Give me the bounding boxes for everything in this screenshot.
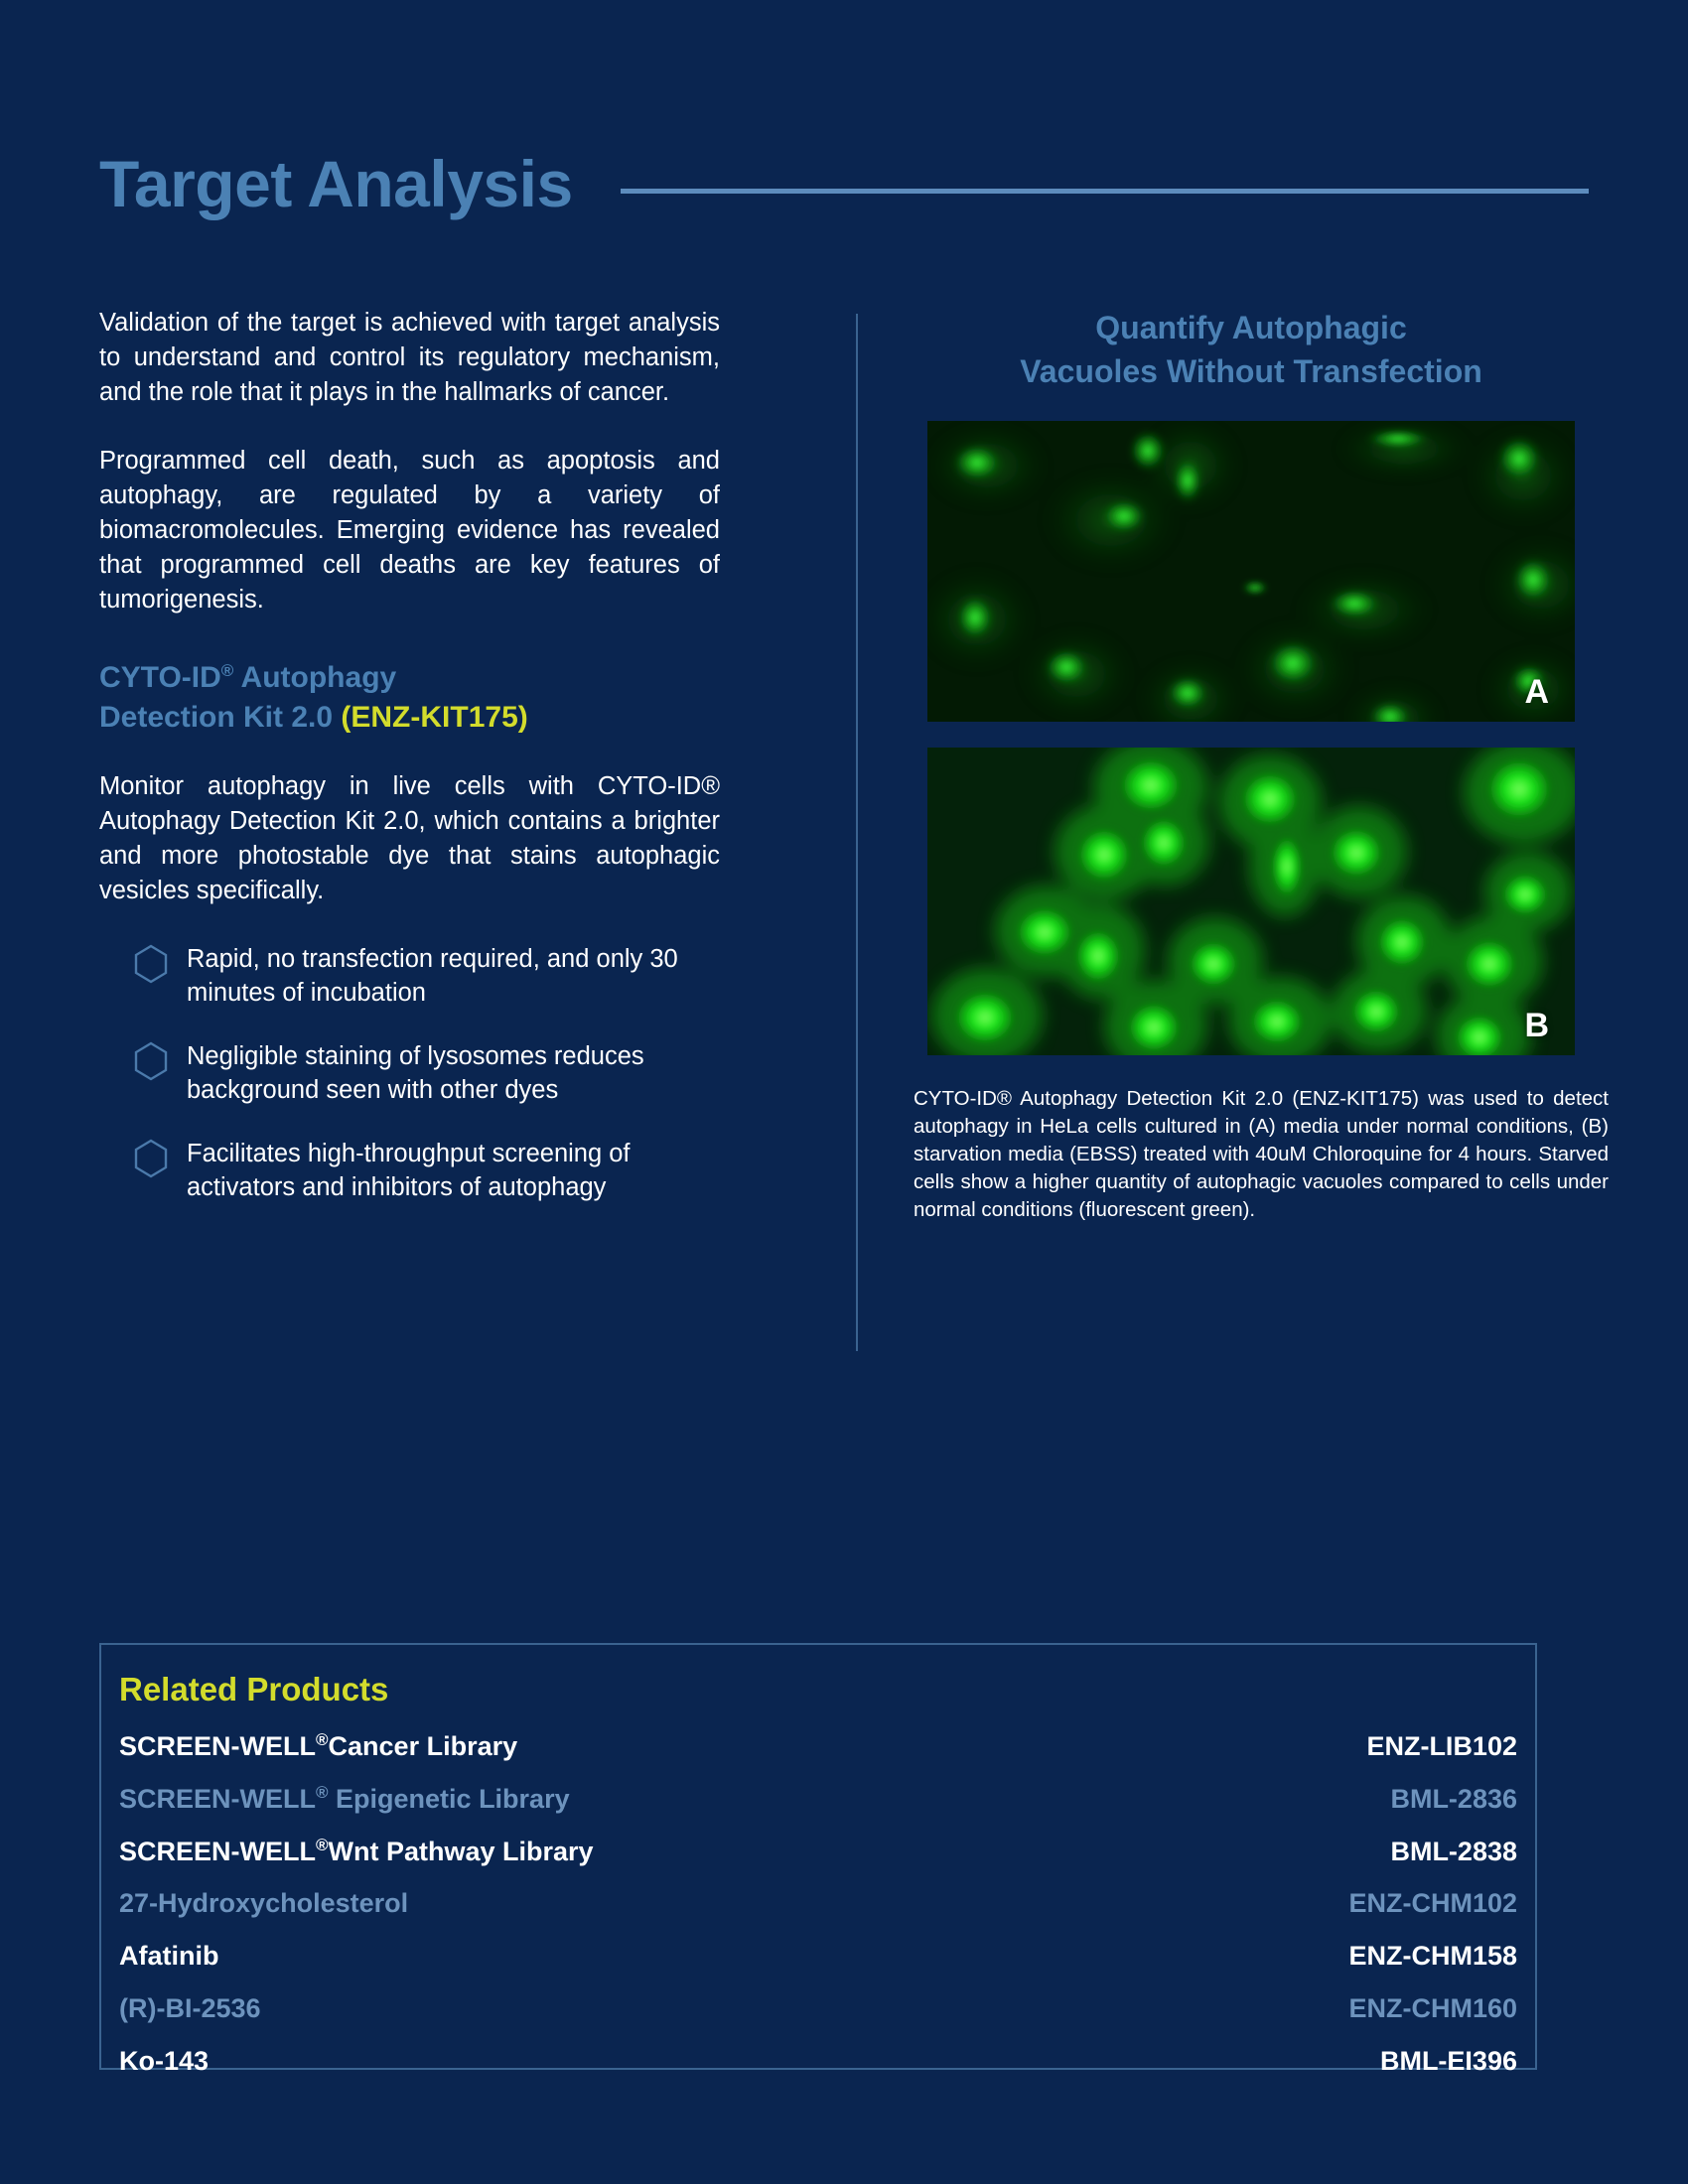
micrograph-image-a: A [927,421,1575,722]
product-catalog-number: ENZ-LIB102 [1366,1731,1517,1762]
figure-heading: Quantify Autophagic Vacuoles Without Tra… [914,306,1589,393]
list-item-label: Facilitates high-throughput screening of… [187,1137,720,1204]
product-catalog-number: ENZ-CHM160 [1348,1993,1517,2024]
registered-mark-icon: ® [316,1730,329,1749]
product-catalog-number: BML-EI396 [1380,2046,1517,2077]
list-item: Facilitates high-throughput screening of… [133,1137,720,1204]
feature-bullet-list: Rapid, no transfection required, and onl… [99,942,720,1204]
product-name: Afatinib [119,1941,219,1972]
related-products-panel: Related Products SCREEN-WELL®Cancer Libr… [99,1643,1537,2070]
table-row[interactable]: 27-Hydroxycholesterol ENZ-CHM102 [119,1888,1517,1941]
product-name: Ko-143 [119,2046,209,2077]
hexagon-bullet-icon [133,944,169,984]
product-description: Monitor autophagy in live cells with CYT… [99,769,720,908]
product-name: (R)-BI-2536 [119,1993,261,2024]
list-item: Rapid, no transfection required, and onl… [133,942,720,1010]
product-name: 27-Hydroxycholesterol [119,1888,408,1919]
list-item: Negligible staining of lysosomes reduces… [133,1039,720,1107]
header-rule [621,189,1589,194]
micrograph-image-b: B [927,748,1575,1055]
table-row[interactable]: SCREEN-WELL®Cancer Library ENZ-LIB102 [119,1730,1517,1783]
product-heading-line2: Detection Kit 2.0 [99,701,341,734]
registered-mark-icon: ® [316,1836,329,1854]
related-products-list: SCREEN-WELL®Cancer Library ENZ-LIB102 SC… [101,1730,1535,2099]
related-products-title: Related Products [119,1671,1535,1708]
product-heading-name-rest: Autophagy [233,661,396,694]
poster-page: Target Analysis Validation of the target… [0,0,1688,2184]
registered-mark-icon: ® [221,661,234,680]
product-catalog-number: BML-2836 [1390,1784,1517,1815]
table-row[interactable]: Afatinib ENZ-CHM158 [119,1941,1517,1993]
figure-heading-line2: Vacuoles Without Transfection [1020,353,1482,389]
micrograph-a-label: A [1524,673,1549,712]
product-catalog-code: (ENZ-KIT175) [341,701,527,734]
list-item-label: Rapid, no transfection required, and onl… [187,942,720,1010]
list-item-label: Negligible staining of lysosomes reduces… [187,1039,720,1107]
table-row[interactable]: Ko-143 BML-EI396 [119,2046,1517,2099]
figure-heading-line1: Quantify Autophagic [1095,310,1406,345]
table-row[interactable]: SCREEN-WELL®Wnt Pathway Library BML-2838 [119,1836,1517,1888]
product-name: SCREEN-WELL® Epigenetic Library [119,1783,570,1815]
hexagon-bullet-icon [133,1139,169,1178]
page-header: Target Analysis [99,144,1589,223]
right-column: Quantify Autophagic Vacuoles Without Tra… [914,306,1589,1224]
intro-paragraph-1: Validation of the target is achieved wit… [99,306,720,410]
micrograph-b-label: B [1524,1007,1549,1045]
hexagon-bullet-icon [133,1041,169,1081]
product-name: SCREEN-WELL®Cancer Library [119,1730,517,1762]
registered-mark-icon: ® [316,1783,329,1802]
table-row[interactable]: (R)-BI-2536 ENZ-CHM160 [119,1993,1517,2046]
product-heading: CYTO-ID® Autophagy Detection Kit 2.0 (EN… [99,651,720,738]
page-title: Target Analysis [99,151,573,216]
micrograph-b-render [927,748,1575,1055]
product-catalog-number: ENZ-CHM158 [1348,1941,1517,1972]
product-catalog-number: BML-2838 [1390,1837,1517,1867]
column-divider [856,314,858,1351]
product-name: SCREEN-WELL®Wnt Pathway Library [119,1836,594,1867]
product-catalog-number: ENZ-CHM102 [1348,1888,1517,1919]
table-row[interactable]: SCREEN-WELL® Epigenetic Library BML-2836 [119,1783,1517,1836]
intro-paragraph-2: Programmed cell death, such as apoptosis… [99,444,720,617]
figure-caption: CYTO-ID® Autophagy Detection Kit 2.0 (EN… [914,1085,1609,1224]
product-heading-name: CYTO-ID [99,661,221,694]
micrograph-a-render [927,421,1575,722]
left-column: Validation of the target is achieved wit… [99,306,720,1234]
